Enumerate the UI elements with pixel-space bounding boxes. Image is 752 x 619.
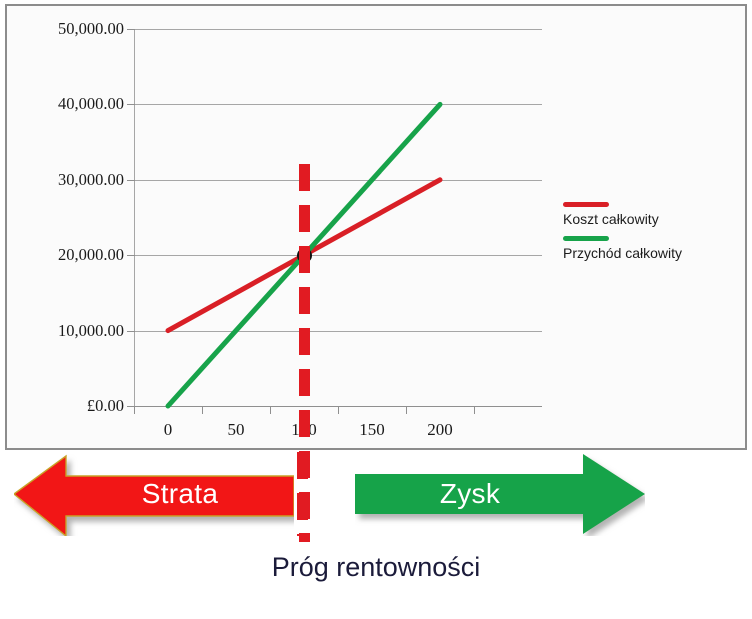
legend-label: Przychód całkowity	[563, 245, 738, 261]
x-axis-tick	[338, 406, 339, 414]
y-axis-tick	[127, 180, 135, 181]
loss-arrow-shape	[14, 452, 294, 536]
x-axis-tick	[406, 406, 407, 414]
legend-entry[interactable]: Przychód całkowity	[563, 236, 738, 261]
breakeven-dashed-line-extension	[297, 452, 308, 536]
x-axis-tick	[474, 406, 475, 414]
y-axis-tick	[127, 29, 135, 30]
page-caption: Próg rentowności	[0, 552, 752, 583]
legend-entry[interactable]: Koszt całkowity	[563, 202, 738, 227]
legend-label: Koszt całkowity	[563, 211, 738, 227]
y-axis-tick	[127, 331, 135, 332]
banner-row: Strata Zysk	[0, 452, 752, 552]
profit-banner: Zysk	[355, 452, 645, 536]
x-axis-tick	[134, 406, 135, 414]
x-axis-tick-label: 50	[201, 420, 271, 440]
x-axis-tick-label: 150	[337, 420, 407, 440]
legend-swatch	[563, 236, 609, 241]
profit-arrow-shape	[355, 452, 645, 536]
x-axis-tick-label: 200	[405, 420, 475, 440]
chart-legend: Koszt całkowityPrzychód całkowity	[563, 202, 738, 270]
x-axis-tick-label: 0	[133, 420, 203, 440]
legend-swatch	[563, 202, 609, 207]
y-axis-tick	[127, 255, 135, 256]
x-axis-tick	[202, 406, 203, 414]
y-axis-tick	[127, 104, 135, 105]
chart-container: £0.0010,000.0020,000.0030,000.0040,000.0…	[5, 4, 747, 450]
x-axis-tick	[270, 406, 271, 414]
loss-banner: Strata	[14, 452, 294, 536]
